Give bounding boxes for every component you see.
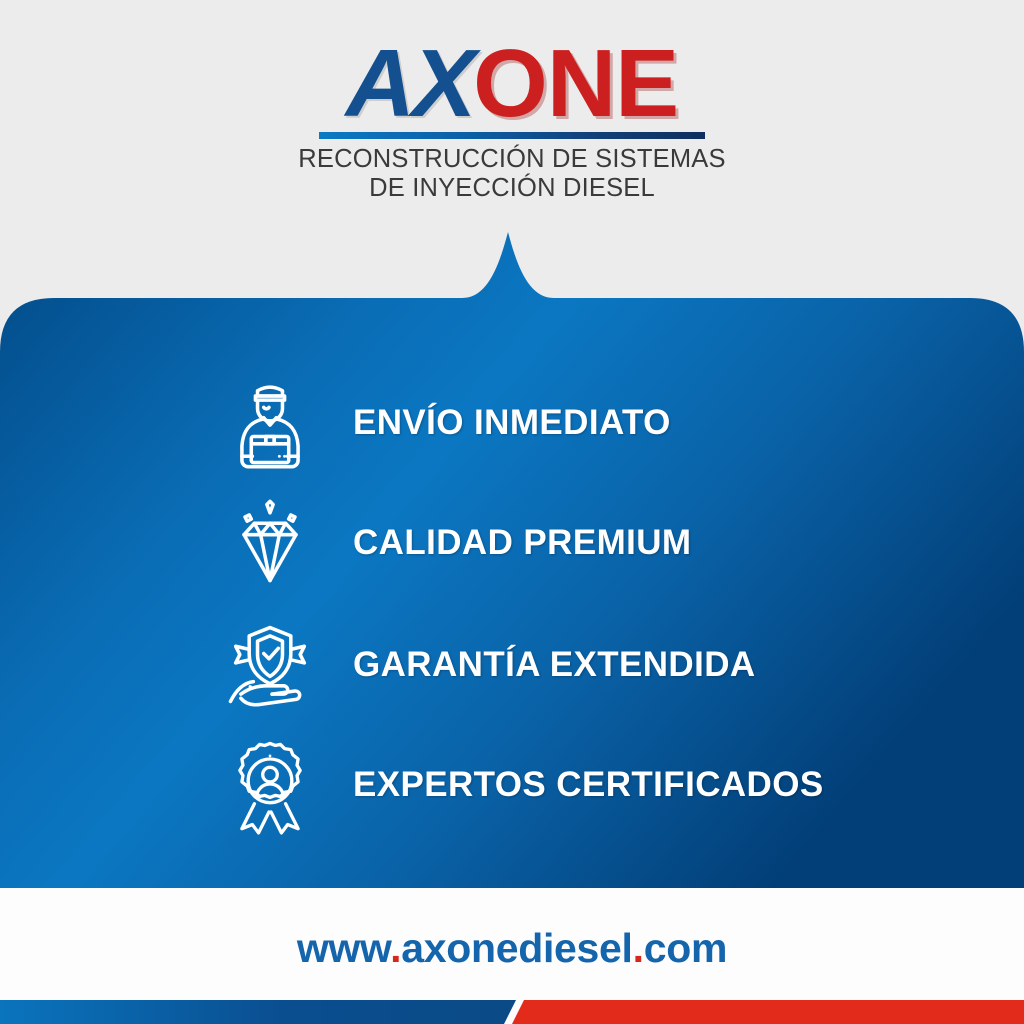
brand-tagline-line2: DE INYECCIÓN DIESEL: [0, 174, 1024, 203]
website-url[interactable]: www.axonediesel.com: [0, 925, 1024, 972]
url-dot-1: .: [390, 925, 401, 971]
promo-poster: AXONE RECONSTRUCCIÓN DE SISTEMAS DE INYE…: [0, 0, 1024, 1024]
features-panel: ENVÍO INMEDIATO: [0, 230, 1024, 888]
feature-label: ENVÍO INMEDIATO: [353, 403, 671, 443]
url-domain: axonediesel: [401, 925, 632, 971]
brand-name-ax: AX: [346, 30, 473, 137]
brand-tagline: RECONSTRUCCIÓN DE SISTEMAS DE INYECCIÓN …: [0, 145, 1024, 203]
brand-name-one: ONE: [473, 30, 678, 137]
url-dot-2: .: [633, 925, 644, 971]
url-prefix: www: [297, 925, 390, 971]
brand-wordmark: AXONE: [0, 38, 1024, 129]
feature-label: CALIDAD PREMIUM: [353, 523, 691, 563]
brand-tagline-line1: RECONSTRUCCIÓN DE SISTEMAS: [0, 145, 1024, 174]
feature-item-expertos-certificados[interactable]: EXPERTOS CERTIFICADOS: [218, 733, 824, 837]
url-tld: com: [644, 925, 727, 971]
bottom-bar-red-segment: [512, 1000, 1024, 1024]
bottom-bar-blue-segment: [0, 1000, 516, 1024]
award-ribbon-person-icon: [218, 733, 322, 837]
feature-label: EXPERTOS CERTIFICADOS: [353, 765, 824, 805]
bottom-accent-bar: [0, 992, 1024, 1024]
feature-label: GARANTÍA EXTENDIDA: [353, 645, 756, 685]
brand-header: AXONE RECONSTRUCCIÓN DE SISTEMAS DE INYE…: [0, 38, 1024, 203]
features-list: ENVÍO INMEDIATO: [0, 230, 1024, 888]
